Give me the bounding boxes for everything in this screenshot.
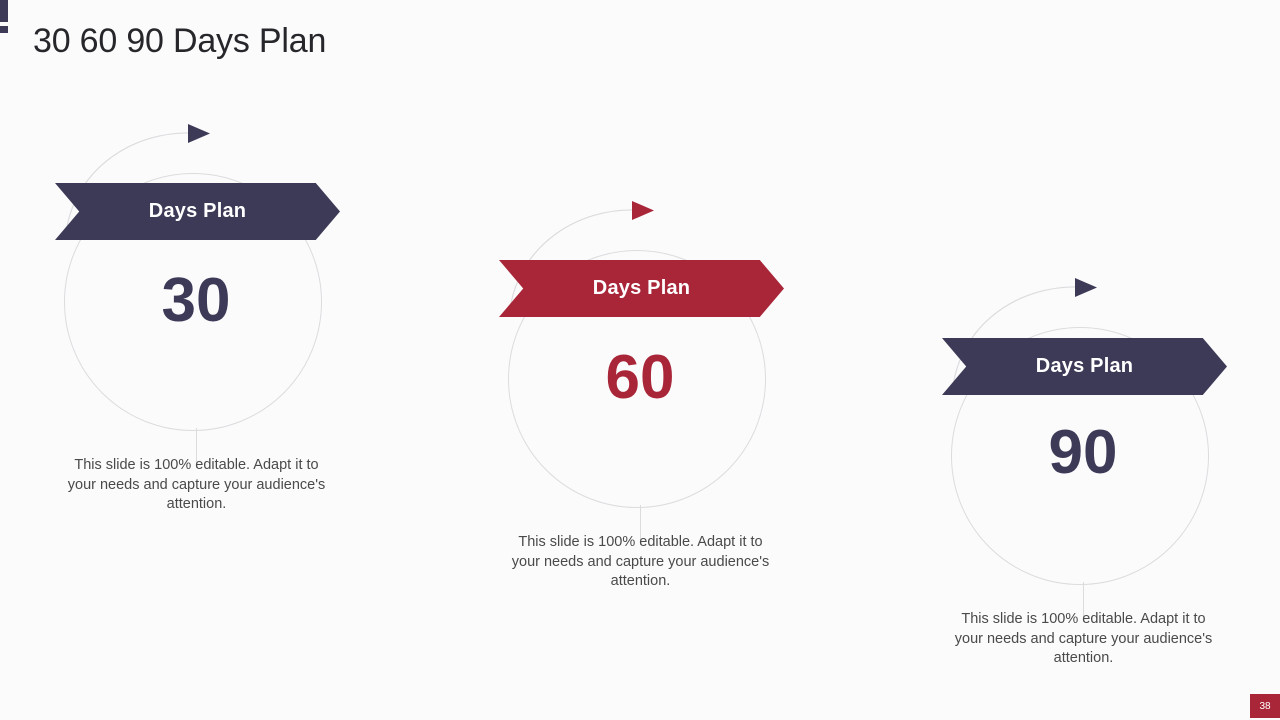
banner-label-90: Days Plan <box>1036 355 1133 378</box>
caption-90: This slide is 100% editable. Adapt it to… <box>951 610 1216 669</box>
number-60: 60 <box>540 347 740 409</box>
arrow-triangle-right-icon <box>632 201 654 220</box>
banner-30[interactable]: Days Plan <box>55 183 340 240</box>
caption-60: This slide is 100% editable. Adapt it to… <box>508 533 773 592</box>
slide-canvas: 30 60 90 Days Plan Days Plan 30 This sli… <box>0 0 1280 720</box>
decorative-square-icon <box>0 26 8 33</box>
page-number-badge: 38 <box>1250 694 1280 718</box>
arrow-triangle-right-icon <box>1075 278 1097 297</box>
banner-label-30: Days Plan <box>149 200 246 223</box>
number-30: 30 <box>96 270 296 332</box>
banner-90[interactable]: Days Plan <box>942 338 1227 395</box>
banner-label-60: Days Plan <box>593 277 690 300</box>
caption-30: This slide is 100% editable. Adapt it to… <box>64 456 329 515</box>
decorative-bar-icon <box>0 0 8 22</box>
page-title: 30 60 90 Days Plan <box>33 22 326 61</box>
arrow-triangle-right-icon <box>188 124 210 143</box>
banner-60[interactable]: Days Plan <box>499 260 784 317</box>
number-90: 90 <box>983 422 1183 484</box>
